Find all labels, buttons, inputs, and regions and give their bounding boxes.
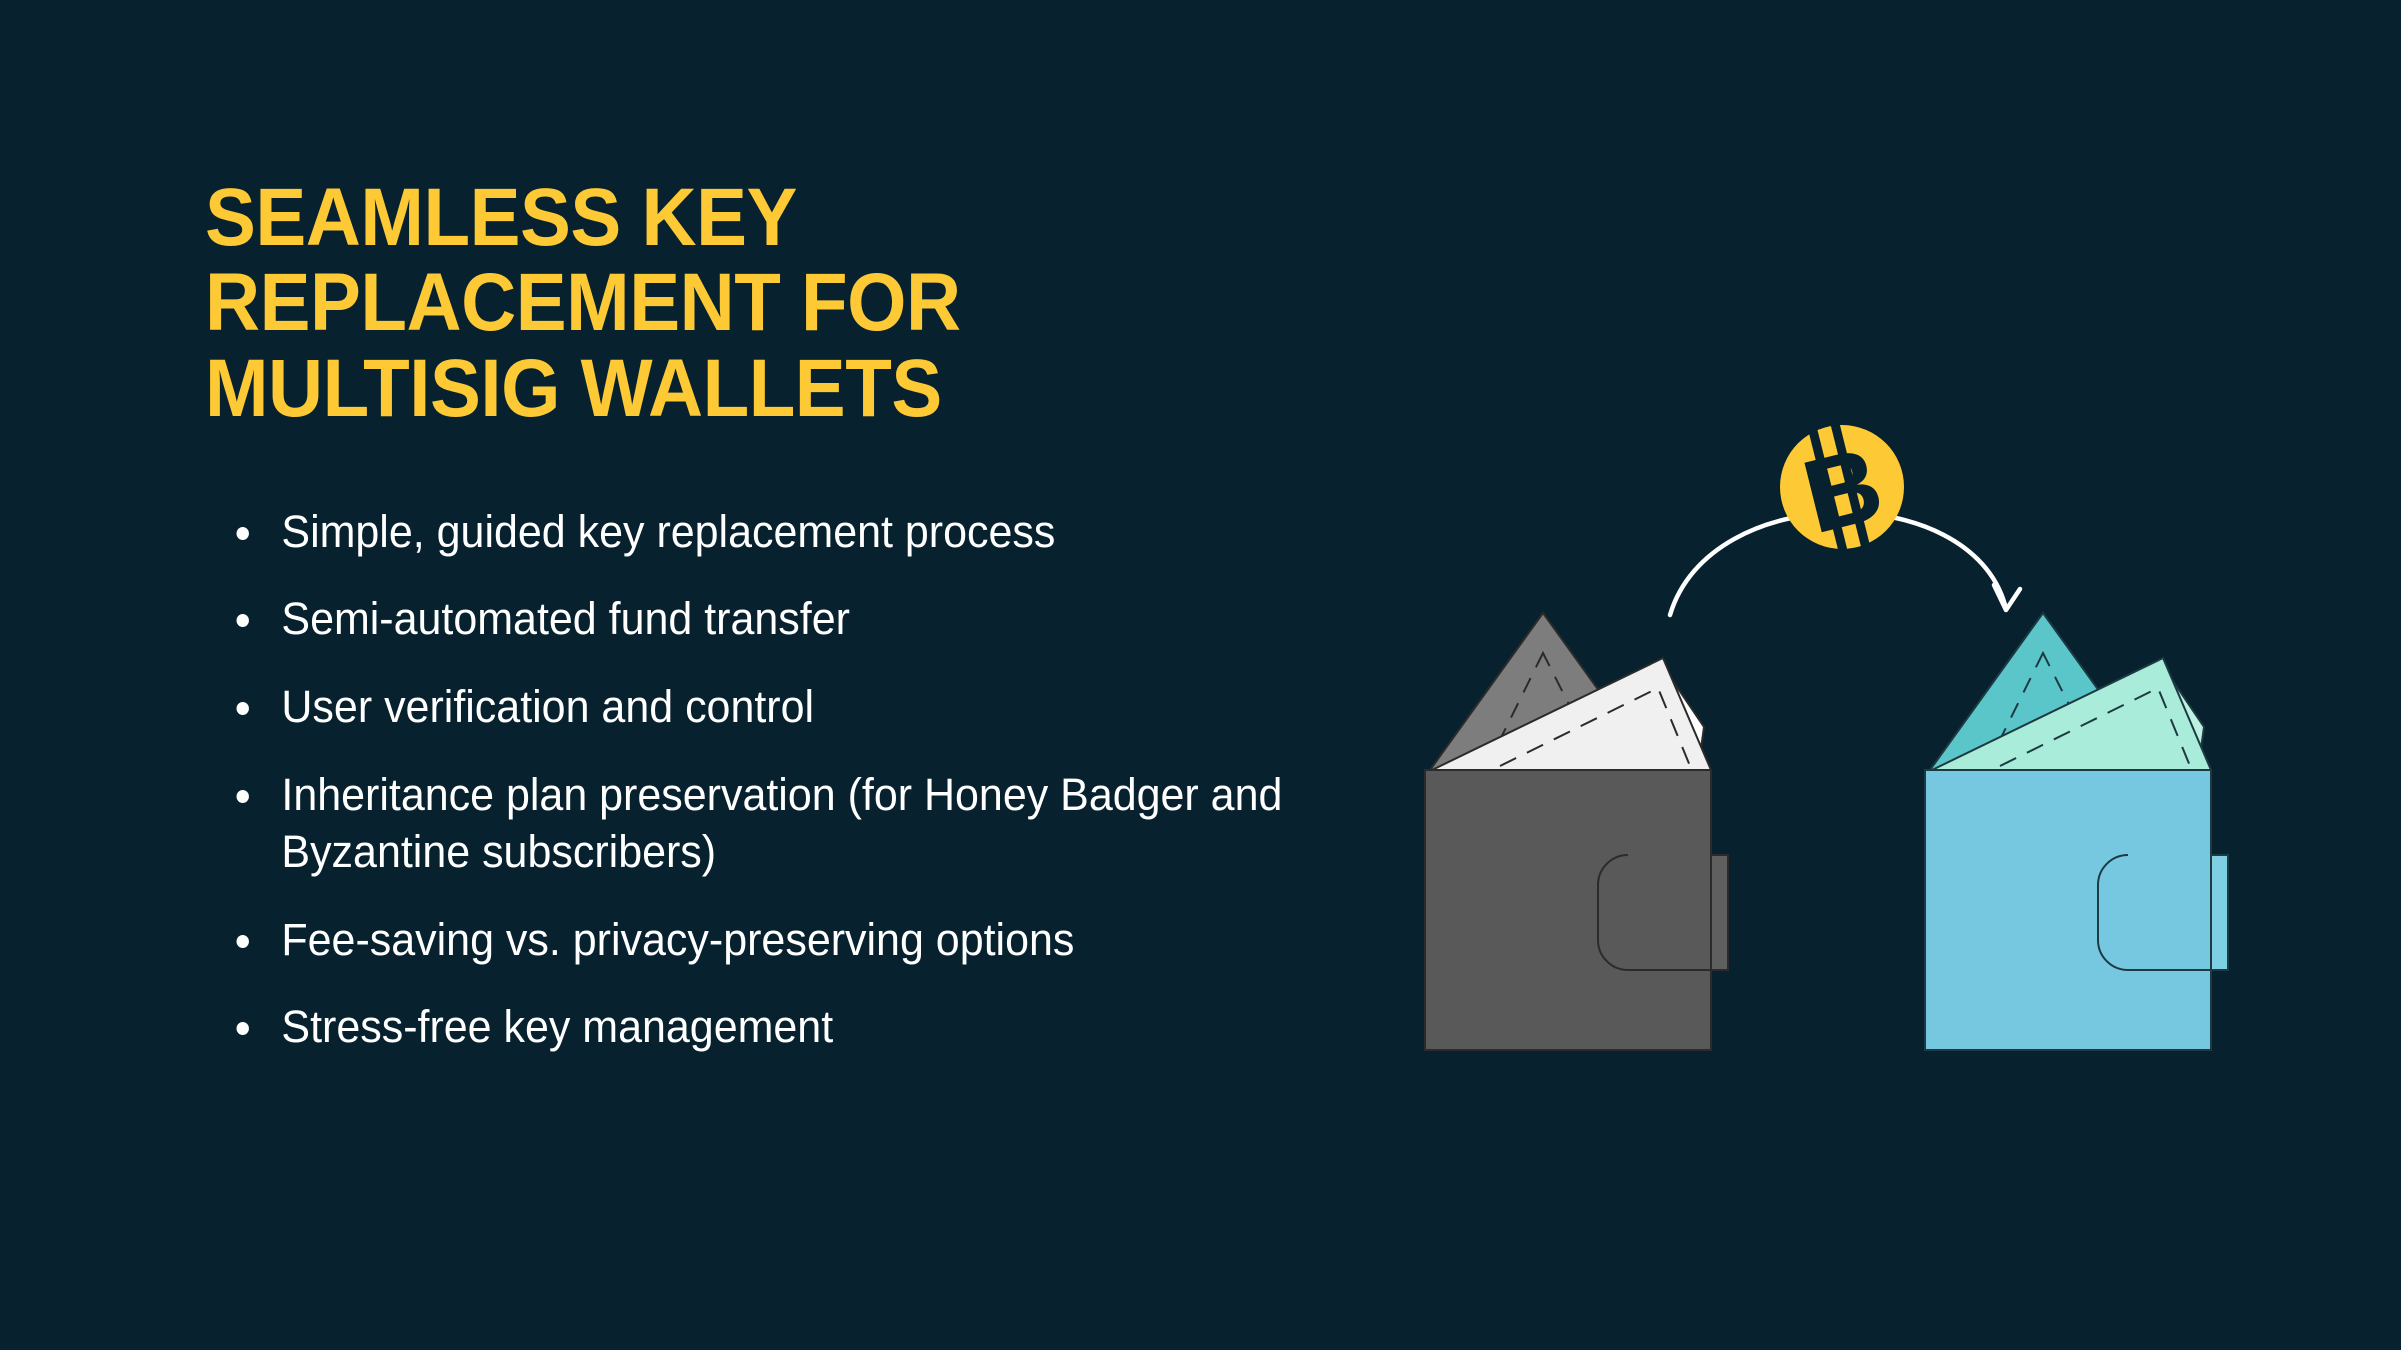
bitcoin-coin-icon: B [1780, 418, 1904, 557]
page-title: SEAMLESS KEY REPLACEMENT FOR MULTISIG WA… [205, 175, 1256, 431]
list-item: Fee-saving vs. privacy-preserving option… [205, 911, 1284, 969]
new-wallet-body [1925, 770, 2211, 1050]
list-item: Simple, guided key replacement process [205, 503, 1284, 561]
old-wallet [1425, 613, 1728, 1050]
feature-bullet-list: Simple, guided key replacement process S… [205, 503, 1335, 1056]
old-wallet-body [1425, 770, 1711, 1050]
slide-root: SEAMLESS KEY REPLACEMENT FOR MULTISIG WA… [0, 0, 2401, 1350]
list-item: User verification and control [205, 678, 1284, 736]
list-item: Stress-free key management [205, 998, 1284, 1056]
list-item: Inheritance plan preservation (for Honey… [205, 766, 1284, 881]
list-item: Semi-automated fund transfer [205, 590, 1284, 648]
text-column: SEAMLESS KEY REPLACEMENT FOR MULTISIG WA… [205, 175, 1335, 1086]
new-wallet [1925, 613, 2228, 1050]
wallet-key-replacement-illustration: B [1380, 370, 2300, 1110]
